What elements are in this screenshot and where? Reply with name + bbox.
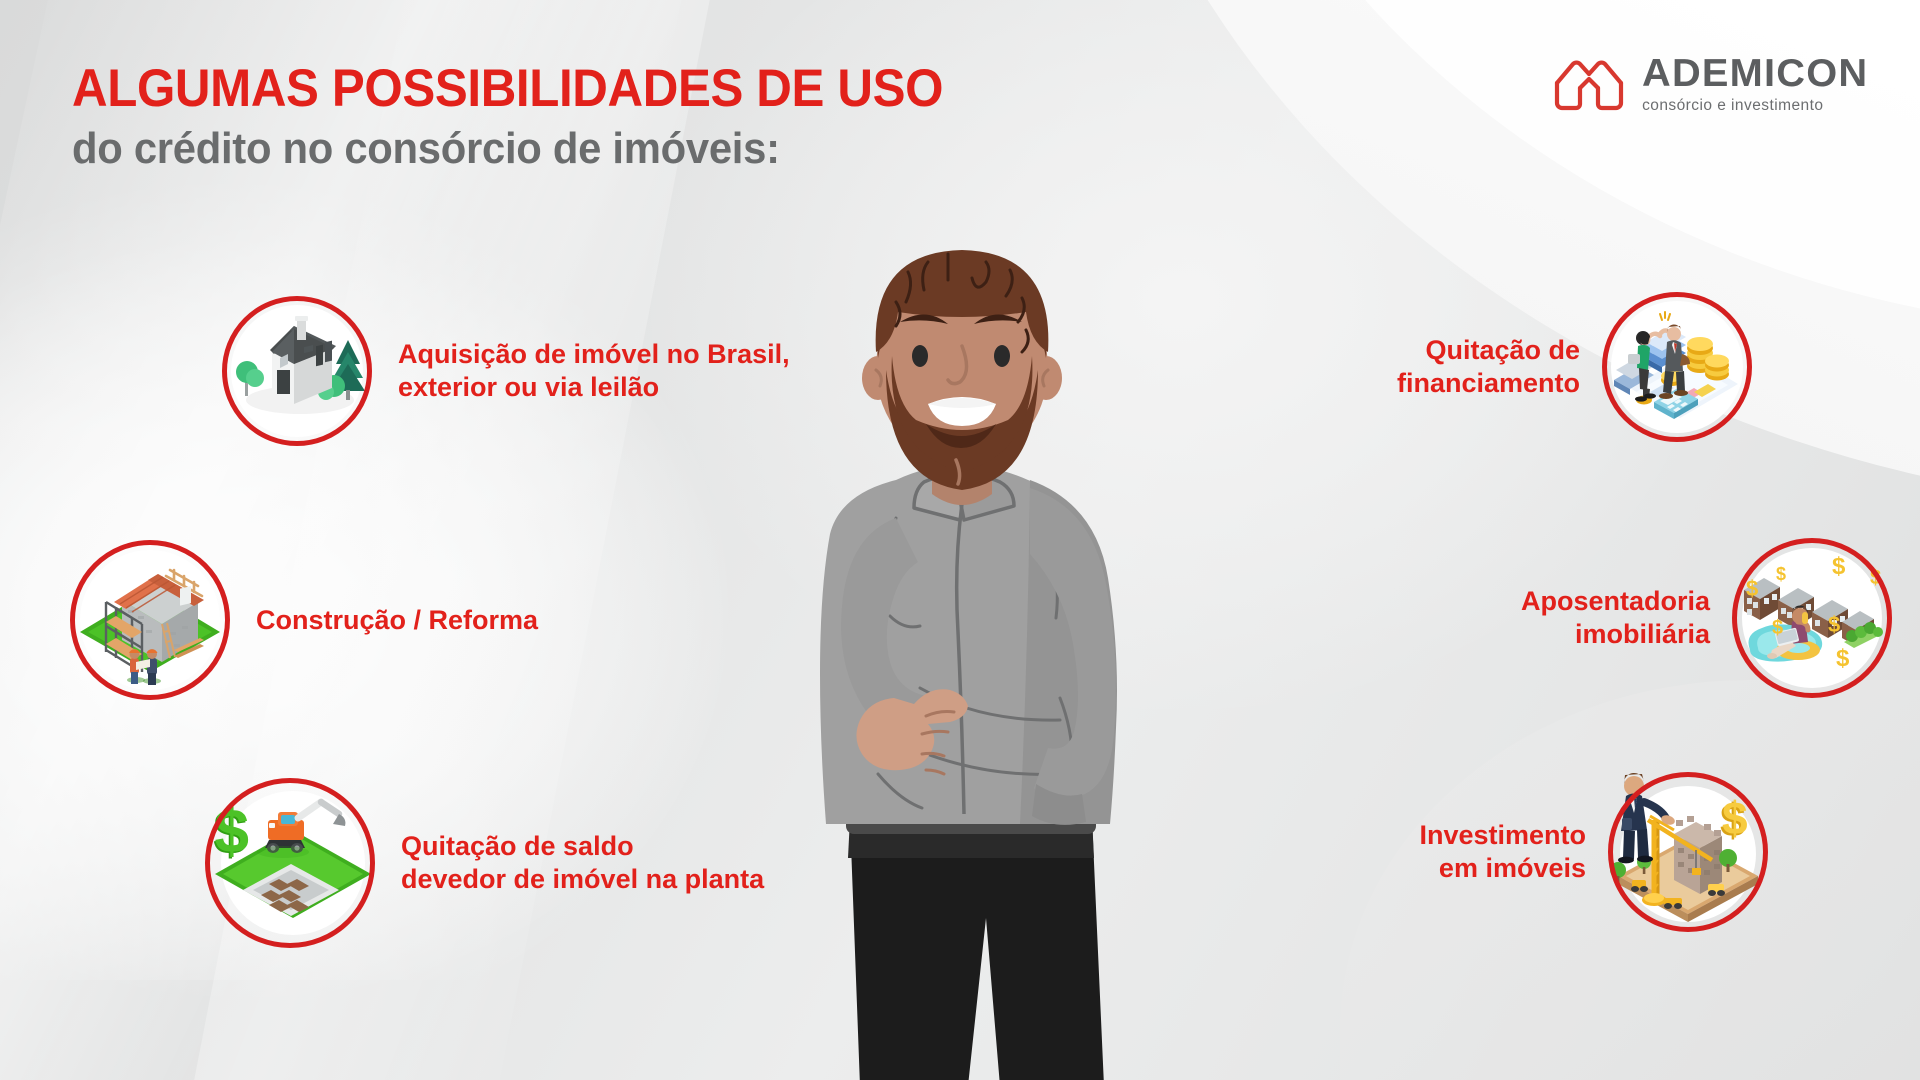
icon-ring (70, 540, 230, 700)
pool-rental-buildings-icon: $ $ $ $ $ $ $ (1732, 538, 1892, 698)
brand-name: ADEMICON (1642, 54, 1868, 93)
item-construcao[interactable]: Construção / Reforma (70, 540, 538, 700)
page-title-block: ALGUMAS POSSIBILIDADES DE USO do crédito… (72, 60, 1009, 177)
icon-ring (1732, 538, 1892, 698)
icon-ring (222, 296, 372, 446)
house-icon (222, 296, 372, 446)
infographic-canvas: ALGUMAS POSSIBILIDADES DE USO do crédito… (0, 0, 1920, 1080)
page-subtitle: do crédito no consórcio de imóveis: (72, 121, 962, 177)
bearded-man-pointing-illustration (700, 218, 1220, 1080)
item-aposentadoria[interactable]: $ $ $ $ $ $ $ Aposentadoria imobiliária (1521, 538, 1892, 698)
brand-logo[interactable]: ADEMICON consórcio e investimento (1552, 54, 1864, 114)
item-label: Construção / Reforma (256, 604, 538, 637)
page-title: ALGUMAS POSSIBILIDADES DE USO (72, 60, 943, 118)
icon-ring (1608, 772, 1768, 932)
handshake-coins-icon (1602, 292, 1752, 442)
item-investimento[interactable]: $ $ Investimento em imóveis (1419, 772, 1768, 932)
item-quitacao-saldo[interactable]: $ $ (205, 778, 764, 948)
item-label: Investimento em imóveis (1419, 819, 1586, 885)
icon-ring (1602, 292, 1752, 442)
excavator-land-plot-icon: $ $ (205, 778, 375, 948)
item-label: Aposentadoria imobiliária (1521, 585, 1710, 651)
brand-tagline: consórcio e investimento (1642, 98, 1864, 114)
house-under-construction-icon (70, 540, 230, 700)
item-label: Quitação de financiamento (1397, 334, 1580, 400)
ademicon-house-mark-icon (1552, 55, 1626, 113)
item-quitacao-fin[interactable]: Quitação de financiamento (1397, 292, 1752, 442)
icon-ring (205, 778, 375, 948)
construction-site-investor-icon: $ $ (1608, 772, 1768, 932)
brand-logo-text: ADEMICON consórcio e investimento (1642, 54, 1864, 114)
